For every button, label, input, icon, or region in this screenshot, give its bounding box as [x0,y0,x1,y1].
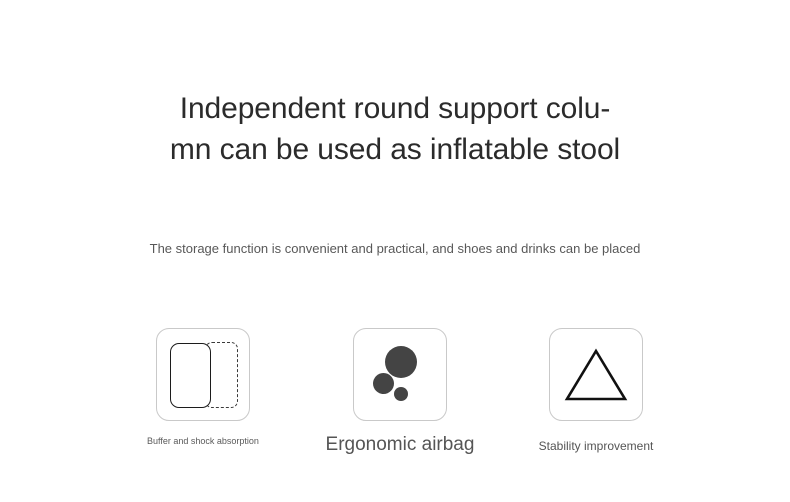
feature-item-stability: Stability improvement [501,328,691,454]
page-title-line-2: mn can be used as inflatable stool [0,129,790,170]
feature-caption-buffer: Buffer and shock absorption [108,435,298,447]
airbag-circle-small [394,387,408,401]
feature-item-buffer: Buffer and shock absorption [108,328,298,447]
ergonomic-airbag-icon [353,328,447,421]
feature-list: Buffer and shock absorption Ergonomic ai… [0,328,790,478]
page-title: Independent round support colu- mn can b… [0,88,790,170]
feature-caption-airbag: Ergonomic airbag [305,434,495,456]
feature-panel: Independent round support colu- mn can b… [0,0,790,502]
airbag-circle-medium [373,373,394,394]
solid-rounded-rectangle-shape [170,343,211,408]
stability-triangle-icon [549,328,643,421]
feature-caption-stability: Stability improvement [501,438,691,454]
page-subtitle: The storage function is convenient and p… [0,240,790,258]
buffer-shock-absorption-icon [156,328,250,421]
feature-item-airbag: Ergonomic airbag [305,328,495,456]
triangle-shape [564,348,628,402]
page-title-line-1: Independent round support colu- [0,88,790,129]
airbag-circle-large [385,346,417,378]
